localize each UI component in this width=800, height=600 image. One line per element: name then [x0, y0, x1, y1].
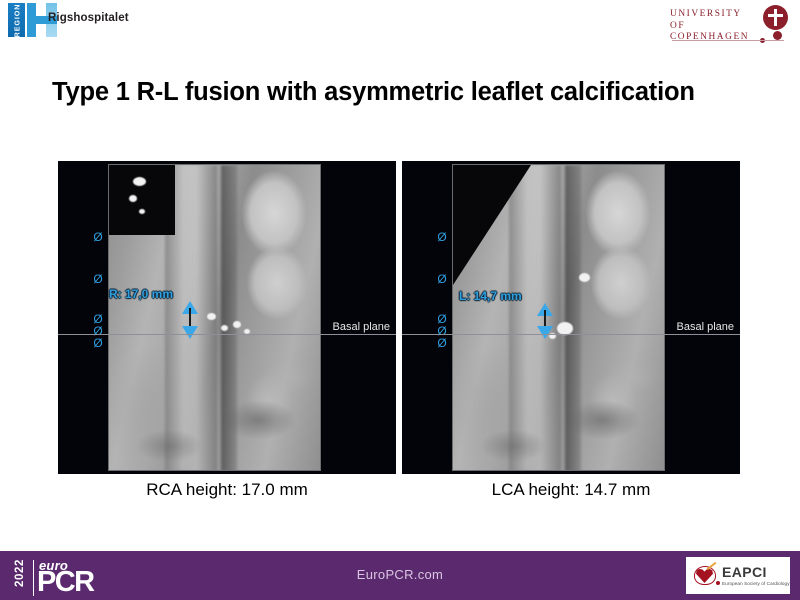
calcification-spot	[579, 273, 590, 282]
calcification-spot	[233, 321, 241, 328]
footer-website-url[interactable]: EuroPCR.com	[0, 567, 800, 582]
basal-plane-label-lca: Basal plane	[677, 321, 735, 333]
rigshospitalet-logo: REGION Rigshospitalet	[8, 3, 126, 37]
measurement-label-lca: L: 14,7 mm	[459, 289, 522, 303]
measurement-label-rca: R: 17,0 mm	[109, 287, 173, 301]
calcification-spot	[207, 313, 216, 320]
esc-dot-icon	[716, 581, 720, 585]
ct-corner-air	[109, 165, 175, 235]
ct-image-lca	[452, 164, 665, 471]
eapci-name: EAPCI	[722, 564, 767, 580]
heart-icon	[694, 564, 716, 586]
arrow-head-down-icon	[182, 326, 198, 339]
caption-rca: RCA height: 17.0 mm	[58, 480, 396, 500]
diameter-icon[interactable]: Ø	[432, 273, 452, 285]
basal-plane-line-lca	[402, 334, 740, 335]
university-rule	[672, 40, 784, 41]
calcification-spot	[139, 209, 145, 214]
university-name: UNIVERSITY OF COPENHAGEN	[670, 9, 756, 44]
slide-header: REGION Rigshospitalet UNIVERSITY OF COPE…	[0, 0, 800, 44]
diameter-icon-column-lca: Ø Ø Ø Ø Ø	[432, 231, 452, 349]
diameter-icon[interactable]: Ø	[432, 231, 452, 243]
eapci-subtitle: European Society of Cardiology	[722, 581, 790, 586]
diameter-icon[interactable]: Ø	[432, 337, 452, 349]
university-seal-icon	[763, 5, 788, 30]
diameter-icon-column-rca: Ø Ø Ø Ø Ø	[88, 231, 108, 349]
ct-lower-texture	[109, 350, 320, 470]
university-line-2: COPENHAGEN	[670, 32, 756, 44]
diameter-icon[interactable]: Ø	[88, 273, 108, 285]
region-label: REGION	[8, 3, 25, 37]
basal-plane-label-rca: Basal plane	[333, 321, 391, 333]
calcification-spot	[129, 195, 137, 202]
slide-title: Type 1 R-L fusion with asymmetric leafle…	[52, 78, 752, 107]
caption-lca: LCA height: 14.7 mm	[402, 480, 740, 500]
calcification-spot	[133, 177, 146, 186]
basal-plane-line-rca	[58, 334, 396, 335]
ct-panel-rca: Ø Ø Ø Ø Ø R: 17,0 mm Basal plane	[58, 161, 396, 474]
hospital-name: Rigshospitalet	[48, 12, 129, 24]
ct-lower-texture	[453, 350, 664, 470]
calcification-spot	[221, 325, 228, 331]
university-line-1: UNIVERSITY OF	[670, 9, 756, 32]
seal-dot-large-icon	[773, 31, 782, 40]
slide-footer: 2022 euro PCR EuroPCR.com EAPCI European…	[0, 551, 800, 600]
region-bar: REGION	[8, 3, 25, 37]
diameter-icon[interactable]: Ø	[88, 337, 108, 349]
diameter-icon[interactable]: Ø	[88, 231, 108, 243]
ct-image-rca	[108, 164, 321, 471]
arrow-head-down-icon	[537, 326, 553, 339]
eapci-logo: EAPCI European Society of Cardiology	[686, 557, 790, 594]
university-of-copenhagen-logo: UNIVERSITY OF COPENHAGEN	[670, 5, 788, 41]
ct-panel-lca: Ø Ø Ø Ø Ø L: 14,7 mm Basal plane	[402, 161, 740, 474]
